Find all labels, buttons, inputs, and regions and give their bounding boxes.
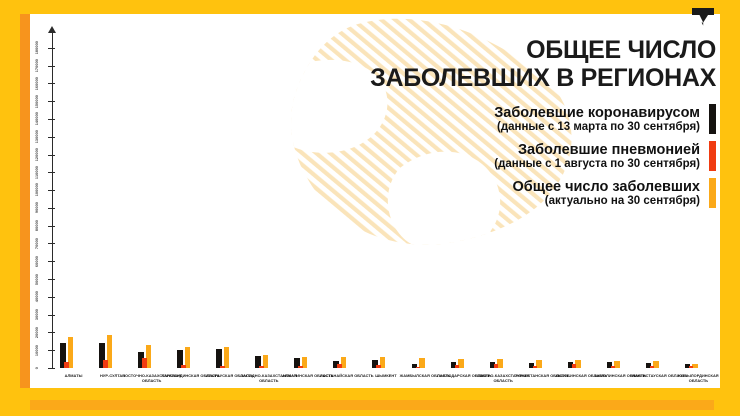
bar-pneumonia[interactable] [689, 366, 694, 368]
bar-group[interactable] [288, 14, 327, 368]
bar-pneumonia[interactable] [494, 364, 499, 368]
bar-coronavirus[interactable] [216, 349, 222, 368]
y-axis-tick-label: 150000 [27, 97, 47, 105]
bar-pneumonia[interactable] [103, 360, 108, 368]
bar-group[interactable] [562, 14, 601, 368]
bar-group[interactable] [210, 14, 249, 368]
bar-pneumonia[interactable] [220, 366, 225, 368]
y-axis-tick [48, 368, 55, 369]
infographic-root: ОБЩЕЕ ЧИСЛО ЗАБОЛЕВШИХ В РЕГИОНАХ Заболе… [0, 0, 740, 416]
bar-pneumonia[interactable] [611, 366, 616, 368]
y-axis-tick-label: 80000 [27, 222, 47, 230]
bar-pneumonia[interactable] [650, 366, 655, 368]
y-axis-tick-label: 30000 [27, 311, 47, 319]
bar-pneumonia[interactable] [64, 362, 69, 368]
y-axis-line [52, 30, 53, 368]
bar-pneumonia[interactable] [142, 358, 147, 368]
y-axis-tick-label: 130000 [27, 133, 47, 141]
y-axis-tick-label: 160000 [27, 79, 47, 87]
y-axis-tick-label: 70000 [27, 239, 47, 247]
bar-group[interactable] [640, 14, 679, 368]
plot-area [54, 14, 718, 368]
bar-group[interactable] [54, 14, 93, 368]
y-axis-tick-label: 0 [27, 364, 47, 372]
y-axis-tick-label: 170000 [27, 62, 47, 70]
y-axis-tick-label: 100000 [27, 186, 47, 194]
y-axis-tick-label: 140000 [27, 115, 47, 123]
bar-group[interactable] [601, 14, 640, 368]
bottom-accent-strip [30, 400, 714, 410]
x-axis-label: КЫЗЫЛОРДИНСКАЯ ОБЛАСТЬ [668, 374, 729, 384]
y-axis-tick-label: 90000 [27, 204, 47, 212]
bar-pneumonia[interactable] [416, 367, 421, 368]
bar-group[interactable] [93, 14, 132, 368]
y-axis-tick-label: 60000 [27, 257, 47, 265]
y-axis-tick-label: 10000 [27, 346, 47, 354]
y-axis-tick-label: 110000 [27, 168, 47, 176]
bar-group[interactable] [484, 14, 523, 368]
bar-chart: 0100002000030000400005000060000700008000… [30, 14, 720, 374]
bar-pneumonia[interactable] [572, 364, 577, 368]
bar-group[interactable] [445, 14, 484, 368]
bar-group[interactable] [679, 14, 718, 368]
y-axis-tick-label: 40000 [27, 293, 47, 301]
bar-pneumonia[interactable] [455, 365, 460, 368]
y-axis-tick-label: 20000 [27, 328, 47, 336]
bar-group[interactable] [132, 14, 171, 368]
y-axis-tick-label: 50000 [27, 275, 47, 283]
bar-group[interactable] [171, 14, 210, 368]
bar-group[interactable] [523, 14, 562, 368]
bar-pneumonia[interactable] [376, 365, 381, 368]
bar-group[interactable] [406, 14, 445, 368]
bar-pneumonia[interactable] [259, 366, 264, 368]
bar-group[interactable] [327, 14, 366, 368]
bar-pneumonia[interactable] [181, 365, 186, 368]
bar-group[interactable] [366, 14, 405, 368]
bar-pneumonia[interactable] [533, 366, 538, 368]
y-axis-tick-label: 180000 [27, 44, 47, 52]
bar-group[interactable] [249, 14, 288, 368]
y-axis-tick-label: 120000 [27, 151, 47, 159]
bar-pneumonia[interactable] [337, 364, 342, 368]
bar-pneumonia[interactable] [298, 366, 303, 368]
bar-total[interactable] [224, 347, 230, 368]
